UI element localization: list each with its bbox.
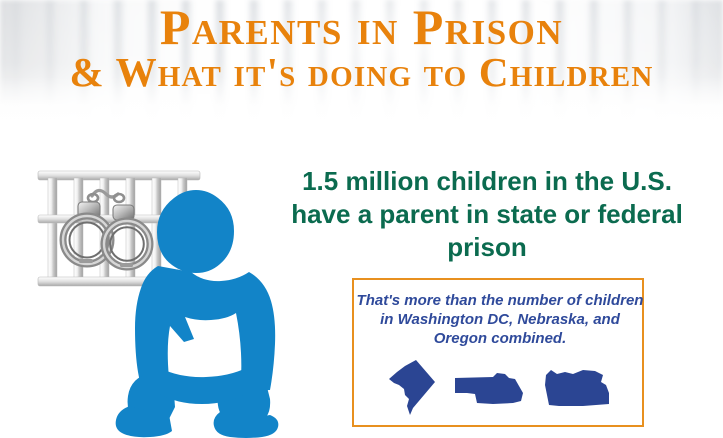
crouching-child-silhouette	[112, 190, 302, 438]
title-line-2: & What it's doing to Children	[0, 50, 723, 94]
callout-text: That's more than the number of children …	[354, 291, 646, 348]
callout-box: That's more than the number of children …	[352, 278, 644, 427]
dc-state-shape	[385, 358, 437, 420]
oregon-state-shape	[543, 365, 615, 413]
page-title: Parents in Prison & What it's doing to C…	[0, 0, 723, 94]
child-silhouette-shape	[112, 190, 302, 438]
state-shapes-row	[354, 356, 646, 422]
headline-statement: 1.5 million children in the U.S. have a …	[284, 165, 690, 264]
infographic-canvas: Parents in Prison & What it's doing to C…	[0, 0, 723, 438]
header-fade	[0, 96, 723, 132]
title-line-1: Parents in Prison	[0, 2, 723, 52]
nebraska-state-shape	[453, 369, 527, 409]
